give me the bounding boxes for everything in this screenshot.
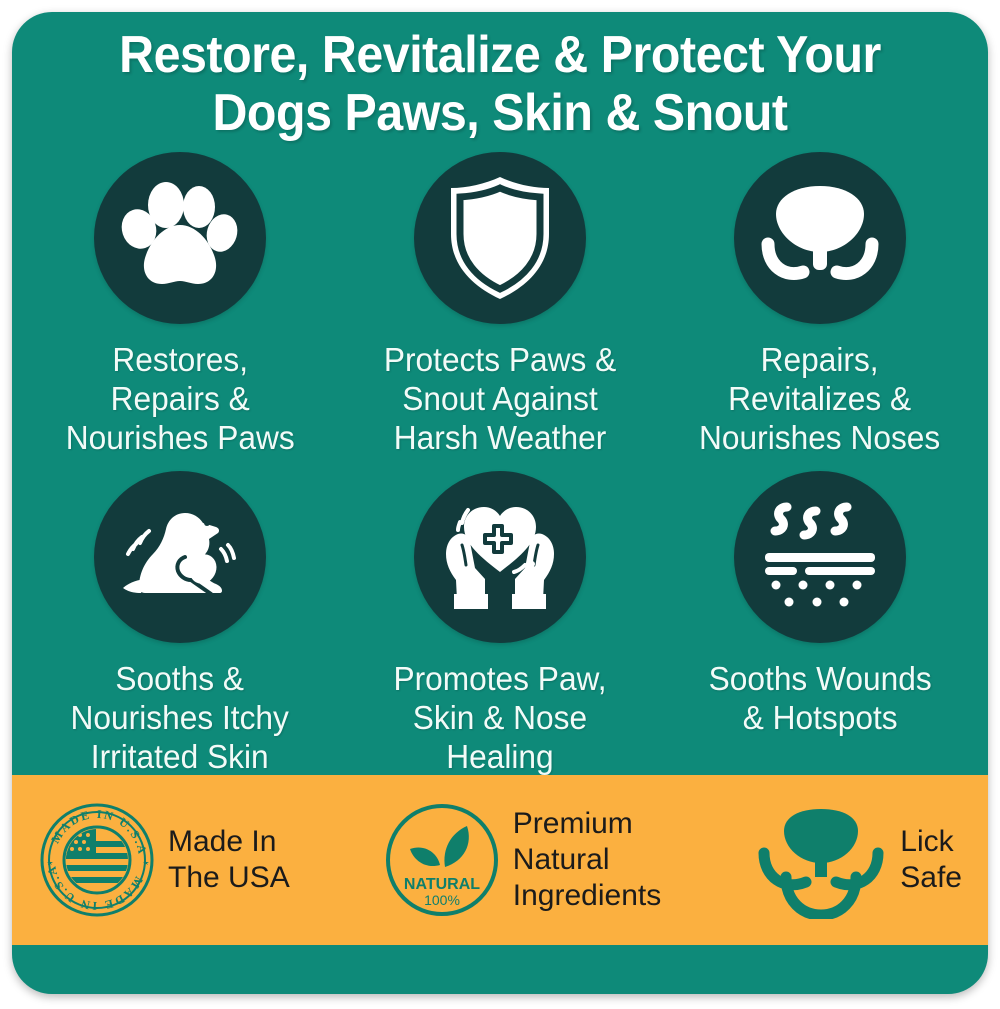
title-line-1: Restore, Revitalize & Protect Your xyxy=(46,26,954,84)
scratching-dog-icon xyxy=(115,501,245,613)
feature-icon-circle xyxy=(94,471,266,643)
wound-steam-icon xyxy=(759,499,881,615)
trust-label: Lick Safe xyxy=(900,824,962,896)
feature-item-sooths-itchy-skin: Sooths & Nourishes Itchy Irritated Skin xyxy=(20,471,340,776)
feature-label: Sooths & Nourishes Itchy Irritated Skin xyxy=(71,659,289,776)
feature-label: Repairs, Revitalizes & Nourishes Noses xyxy=(699,340,940,457)
feature-item-repairs-noses: Repairs, Revitalizes & Nourishes Noses xyxy=(660,152,980,457)
feature-item-protects-weather: Protects Paws & Snout Against Harsh Weat… xyxy=(340,152,660,457)
hands-holding-heart-icon xyxy=(438,496,562,618)
trust-item-made-in-usa: MADE IN U.S.A MADE IN U.S.A Made In The … xyxy=(38,801,290,919)
made-in-usa-seal-icon: MADE IN U.S.A MADE IN U.S.A xyxy=(38,801,156,919)
natural-leaf-badge-icon: NATURAL 100% xyxy=(383,801,501,919)
feature-icon-circle xyxy=(414,152,586,324)
natural-badge-percent: 100% xyxy=(424,892,460,908)
product-benefits-card: Restore, Revitalize & Protect Your Dogs … xyxy=(12,12,988,994)
shield-icon xyxy=(443,176,557,300)
infographic-page: Restore, Revitalize & Protect Your Dogs … xyxy=(0,0,1000,1009)
trust-label: Made In The USA xyxy=(168,824,290,896)
feature-item-promotes-healing: Promotes Paw, Skin & Nose Healing xyxy=(340,471,660,776)
feature-label: Protects Paws & Snout Against Harsh Weat… xyxy=(384,340,616,457)
feature-icon-circle xyxy=(94,152,266,324)
svg-text:MADE IN U.S.A: MADE IN U.S.A xyxy=(48,807,150,857)
feature-icon-circle xyxy=(734,152,906,324)
feature-item-restores-paws: Restores, Repairs & Nourishes Paws xyxy=(20,152,340,457)
paw-print-icon xyxy=(119,177,241,299)
trust-band: MADE IN U.S.A MADE IN U.S.A Made In The … xyxy=(12,775,988,945)
feature-label: Restores, Repairs & Nourishes Paws xyxy=(66,340,295,457)
feature-grid: Restores, Repairs & Nourishes Paws Prote… xyxy=(20,152,980,776)
lick-safe-nose-tongue-icon xyxy=(754,801,888,919)
trust-label: Premium Natural Ingredients xyxy=(513,806,661,914)
trust-item-lick-safe: Lick Safe xyxy=(754,801,962,919)
feature-icon-circle xyxy=(734,471,906,643)
title-line-2: Dogs Paws, Skin & Snout xyxy=(46,84,954,142)
dog-nose-icon xyxy=(758,182,882,294)
natural-badge-word: NATURAL xyxy=(404,876,480,893)
feature-item-sooths-wounds: Sooths Wounds & Hotspots xyxy=(660,471,980,776)
feature-label: Sooths Wounds & Hotspots xyxy=(708,659,931,737)
feature-icon-circle xyxy=(414,471,586,643)
page-title: Restore, Revitalize & Protect Your Dogs … xyxy=(46,26,954,142)
seal-text-top: MADE IN U.S.A xyxy=(48,807,150,857)
feature-label: Promotes Paw, Skin & Nose Healing xyxy=(393,659,606,776)
trust-item-natural-ingredients: NATURAL 100% Premium Natural Ingredients xyxy=(383,801,661,919)
